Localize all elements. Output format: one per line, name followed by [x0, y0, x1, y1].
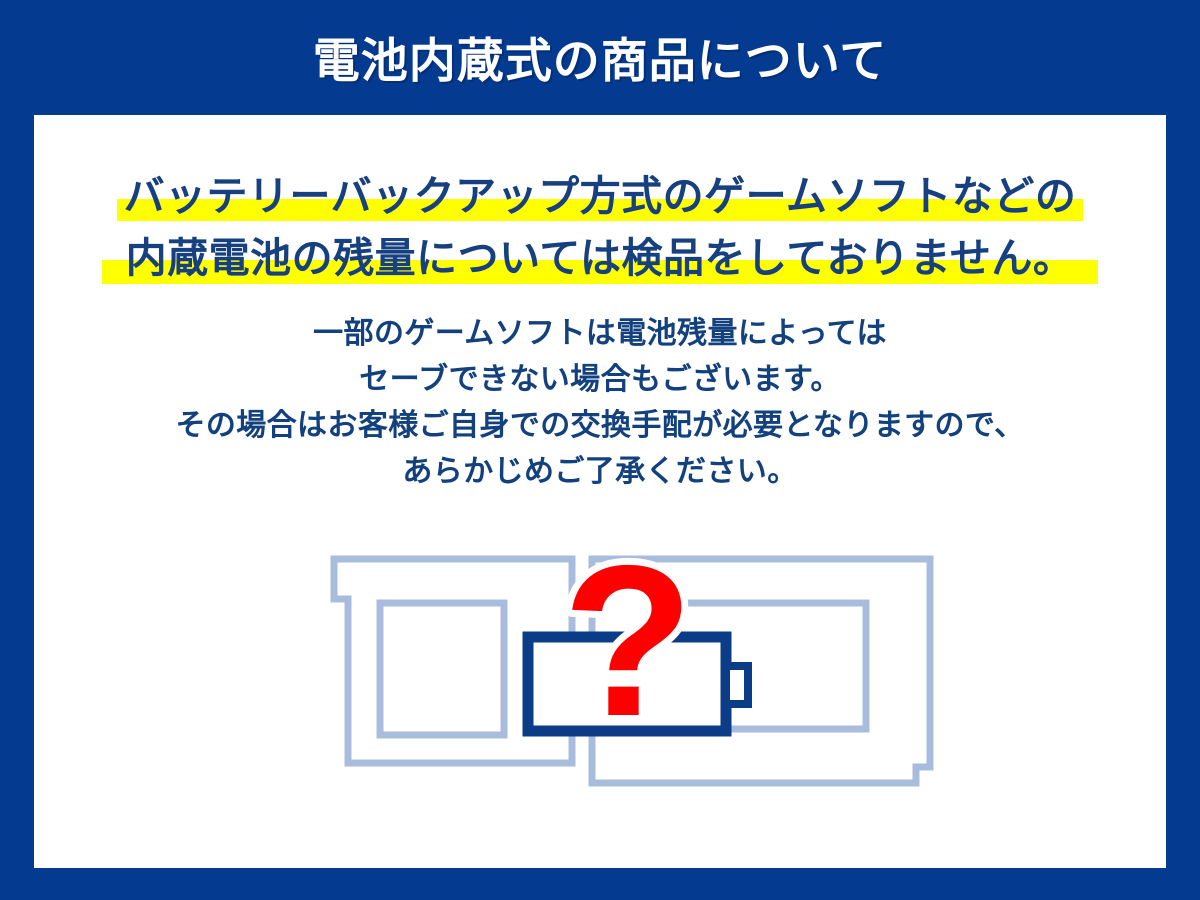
headline-line: 内蔵電池の残量については検品をしておりません。: [34, 227, 1166, 289]
svg-text:?: ?: [562, 535, 693, 761]
bottom-strip: [0, 868, 1200, 900]
header-bar: 電池内蔵式の商品について: [0, 0, 1200, 115]
illustration-svg: ? ?: [300, 535, 960, 835]
body-line: その場合はお客様ご自身での交換手配が必要となりますので、: [34, 403, 1166, 449]
body-line: あらかじめご了承ください。: [34, 449, 1166, 495]
headline-block: バッテリーバックアップ方式のゲームソフトなどの 内蔵電池の残量については検品をし…: [34, 165, 1166, 289]
page-title: 電池内蔵式の商品について: [313, 37, 888, 84]
body-line: セーブできない場合もございます。: [34, 357, 1166, 403]
headline-line: バッテリーバックアップ方式のゲームソフトなどの: [34, 165, 1166, 227]
content-panel: バッテリーバックアップ方式のゲームソフトなどの 内蔵電池の残量については検品をし…: [34, 115, 1166, 868]
body-line: 一部のゲームソフトは電池残量によっては: [34, 311, 1166, 357]
game-cartridge-left-label-window: [380, 603, 504, 735]
headline-line-text: 内蔵電池の残量については検品をしておりません。: [126, 227, 1075, 289]
question-mark-icon: ? ?: [562, 535, 693, 761]
slide-root: 電池内蔵式の商品について バッテリーバックアップ方式のゲームソフトなどの 内蔵電…: [0, 0, 1200, 900]
illustration: ? ?: [300, 535, 960, 835]
battery-terminal-icon: [726, 666, 748, 704]
body-paragraph: 一部のゲームソフトは電池残量によっては セーブできない場合もございます。 その場…: [34, 311, 1166, 495]
headline-line-text: バッテリーバックアップ方式のゲームソフトなどの: [124, 165, 1077, 227]
